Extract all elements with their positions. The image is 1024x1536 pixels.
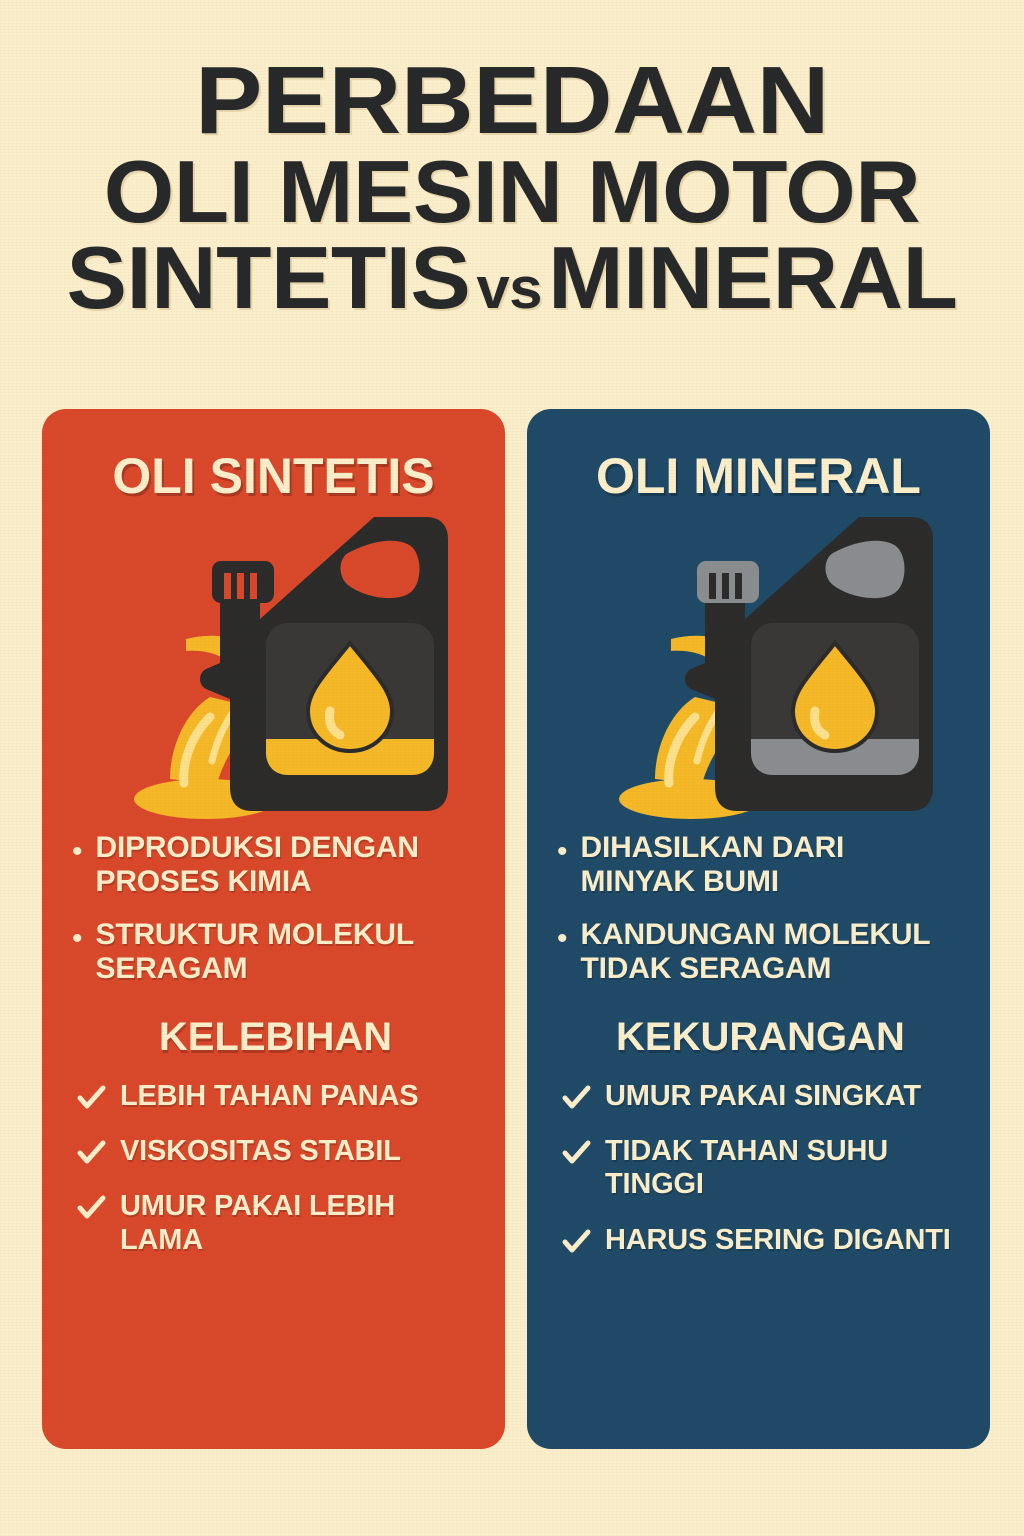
list-item: VISKOSITAS STABIL [76, 1135, 479, 1168]
card-header-sintetis: OLI SINTETIS [42, 447, 505, 505]
page-title: PERBEDAAN OLI MESIN MOTOR SINTETISvsMINE… [0, 56, 1024, 319]
bullet-dot-icon: • [557, 924, 568, 954]
title-line-3: SINTETISvsMINERAL [0, 237, 1024, 319]
bullet-dot-icon: • [72, 837, 83, 867]
card-header-mineral: OLI MINERAL [527, 447, 990, 505]
list-item: • KANDUNGAN MOLEKUL TIDAK SERAGAM [557, 918, 964, 985]
title-line-2: OLI MESIN MOTOR [0, 151, 1024, 233]
bullet-label: STRUKTUR MOLEKUL SERAGAM [96, 918, 479, 985]
check-label: HARUS SERING DIGANTI [605, 1224, 951, 1257]
bullet-label: DIPRODUKSI DENGAN PROSES KIMIA [96, 831, 479, 898]
list-item: • DIPRODUKSI DENGAN PROSES KIMIA [72, 831, 479, 898]
list-item: UMUR PAKAI LEBIH LAMA [76, 1190, 479, 1256]
card-oli-mineral: OLI MINERAL [527, 409, 990, 1449]
bullet-list-sintetis: • DIPRODUKSI DENGAN PROSES KIMIA • STRUK… [72, 831, 479, 985]
list-item: TIDAK TAHAN SUHU TINGGI [561, 1135, 964, 1201]
list-item: • STRUKTUR MOLEKUL SERAGAM [72, 918, 479, 985]
oil-jug-pouring-icon-sintetis [42, 511, 505, 831]
check-label: UMUR PAKAI LEBIH LAMA [120, 1190, 479, 1256]
bullet-dot-icon: • [557, 837, 568, 867]
check-list-sintetis: LEBIH TAHAN PANAS VISKOSITAS STABIL UMUR… [72, 1080, 479, 1256]
check-icon [561, 1227, 591, 1257]
check-icon [76, 1138, 106, 1168]
title-sintetis: SINTETIS [67, 228, 471, 327]
bullet-label: KANDUNGAN MOLEKUL TIDAK SERAGAM [581, 918, 964, 985]
section-title-kekurangan: KEKURANGAN [557, 1015, 964, 1060]
check-icon [76, 1193, 106, 1223]
comparison-cards: OLI SINTETIS [42, 409, 990, 1449]
check-icon [561, 1083, 591, 1113]
list-item: HARUS SERING DIGANTI [561, 1224, 964, 1257]
card-oli-sintetis: OLI SINTETIS [42, 409, 505, 1449]
title-vs: vs [470, 256, 548, 321]
list-item: UMUR PAKAI SINGKAT [561, 1080, 964, 1113]
list-item: LEBIH TAHAN PANAS [76, 1080, 479, 1113]
list-item: • DIHASILKAN DARI MINYAK BUMI [557, 831, 964, 898]
check-icon [76, 1083, 106, 1113]
check-list-mineral: UMUR PAKAI SINGKAT TIDAK TAHAN SUHU TING… [557, 1080, 964, 1256]
check-label: VISKOSITAS STABIL [120, 1135, 401, 1168]
title-line-1: PERBEDAAN [0, 56, 1024, 145]
check-label: LEBIH TAHAN PANAS [120, 1080, 418, 1113]
check-label: TIDAK TAHAN SUHU TINGGI [605, 1135, 964, 1201]
card-body-sintetis: • DIPRODUKSI DENGAN PROSES KIMIA • STRUK… [42, 831, 505, 1257]
title-mineral: MINERAL [548, 228, 957, 327]
section-title-kelebihan: KELEBIHAN [72, 1015, 479, 1060]
check-icon [561, 1138, 591, 1168]
oil-jug-pouring-icon-mineral [527, 511, 990, 831]
bullet-label: DIHASILKAN DARI MINYAK BUMI [581, 831, 964, 898]
card-body-mineral: • DIHASILKAN DARI MINYAK BUMI • KANDUNGA… [527, 831, 990, 1257]
check-label: UMUR PAKAI SINGKAT [605, 1080, 921, 1113]
bullet-list-mineral: • DIHASILKAN DARI MINYAK BUMI • KANDUNGA… [557, 831, 964, 985]
bullet-dot-icon: • [72, 924, 83, 954]
